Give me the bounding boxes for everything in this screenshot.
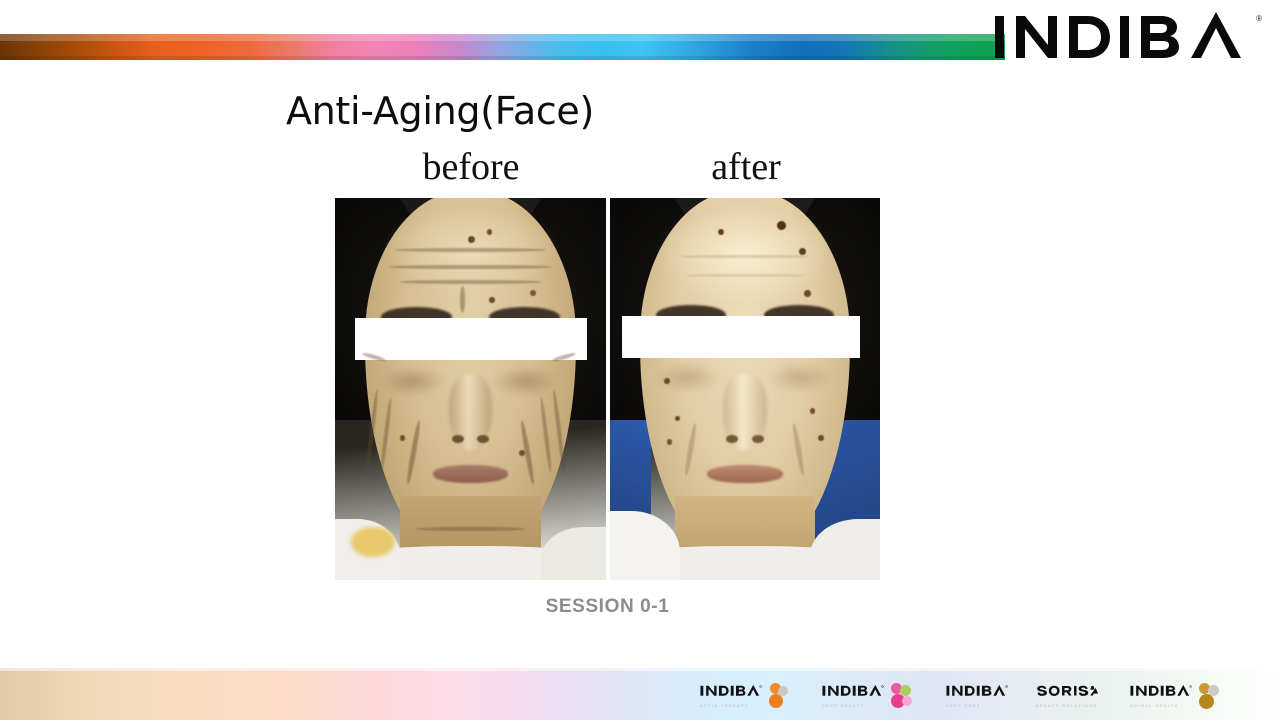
pigment-spot [818,435,824,441]
undereye-left [378,366,446,397]
gradient-shadow [0,56,1005,60]
footer-logo-wordmark [1036,684,1098,701]
blob-orange-bottom [769,694,783,708]
privacy-bar-before [355,318,587,360]
footer-logo-blobs [1195,683,1221,709]
pigment-spot [810,408,815,414]
footer-highlight [0,668,1280,671]
nostril-left [452,435,464,443]
pigment-spot [487,229,493,235]
wrinkle-forehead [395,248,547,252]
nostril-right [752,435,764,443]
wrinkle-forehead [400,280,541,284]
pigment-spot [804,290,810,297]
indiba-wordmark-icon [700,684,762,697]
footer-logo-indiba-deep-beauty: DEEP BEAUTY [822,676,913,716]
undereye-right [492,366,560,397]
footer-logo-tagline: ANIMAL HEALTH [1130,704,1192,708]
sorisa-wordmark-icon [1036,684,1098,697]
top-header: ® [0,0,1280,78]
wrinkle-glabella [460,286,465,313]
pigment-spot [667,439,673,445]
gradient-highlight [0,34,1005,41]
slide-canvas: ® Anti-Aging(Face) before after [0,0,1280,720]
pigment-spot [400,435,405,441]
footer-logo-blobs [887,683,913,709]
indiba-wordmark-icon [822,684,884,697]
label-after: after [610,144,882,190]
wrinkle-neck [416,527,524,531]
session-caption: SESSION 0-1 [335,596,880,618]
indiba-logo: ® [993,10,1262,62]
mouth [707,465,783,483]
page-title: Anti-Aging(Face) [0,88,880,134]
pigment-spot [489,297,494,303]
privacy-bar-after [622,316,860,358]
footer-logo-indiba-animal-health: ANIMAL HEALTH [1130,676,1221,716]
footer-logo-sorisa: BEAUTY SOLUTIONS [1036,676,1098,716]
blob-gold-bottom [1199,694,1214,709]
footer-logo-tagline: DEEP CARE [946,704,1008,708]
footer-logo-tagline: BEAUTY SOLUTIONS [1036,704,1098,708]
photo-before [335,198,606,580]
collar-accent [351,527,394,558]
mouth [433,465,509,483]
footer-logo-blobs [765,683,791,709]
pigment-spot [777,221,786,230]
indiba-wordmark-icon [1130,684,1192,697]
trademark-symbol: ® [1256,14,1262,23]
footer-logo-tagline: ACTIV THERAPY [700,704,762,708]
photo-after [610,198,880,580]
undereye-left [653,362,721,393]
undereye-right [767,362,835,393]
footer-logo-indiba-deep-care: DEEP CARE [946,676,1008,716]
indiba-wordmark-icon [946,684,1008,697]
footer-logo-wordmark [946,684,1008,701]
pigment-spot [664,378,670,384]
footer-logo-wordmark [822,684,884,701]
footer-logo-wordmark [1130,684,1192,701]
label-before: before [335,144,607,190]
blob-pink-light [902,696,912,706]
pigment-spot [519,450,524,456]
footer-logo-tagline: DEEP BEAUTY [822,704,884,708]
brand-gradient-bar [0,34,1005,60]
footer-logo-wordmark [700,684,762,701]
footer-logo-indiba-activ: ACTIV THERAPY [700,676,791,716]
footer-logo-row: ACTIV THERAPY [0,672,1280,720]
indiba-wordmark-icon [993,10,1255,62]
